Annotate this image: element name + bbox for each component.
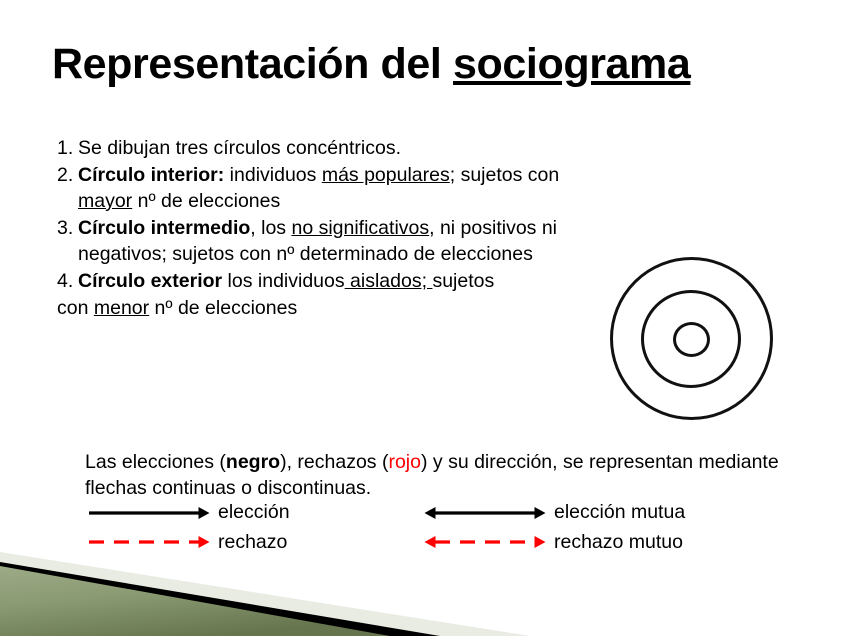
list-item-text: Se dibujan tres círculos concéntricos. <box>78 136 602 162</box>
legend-label-3: rechazo mutuo <box>554 533 788 553</box>
page-title: Representación del sociograma <box>52 40 812 89</box>
bullet-list: 1. Se dibujan tres círculos concéntricos… <box>57 136 602 321</box>
legend-label-0: elección <box>218 503 424 523</box>
legend: elección elección mutua rechazo rechazo … <box>88 503 788 552</box>
page-title-emphasis: sociograma <box>453 40 690 88</box>
concentric-circles-diagram <box>608 255 776 423</box>
legend-icon-1 <box>424 504 546 522</box>
legend-icon-2 <box>88 533 210 551</box>
caption-text: Las elecciones (negro), rechazos (rojo) … <box>85 450 785 501</box>
slide: Representación del sociograma 1. Se dibu… <box>0 0 848 636</box>
list-item-number: 4. <box>57 269 78 295</box>
page-title-prefix: Representación del <box>52 40 453 88</box>
list-item-number: 1. <box>57 136 78 162</box>
corner-gray-band <box>0 552 530 636</box>
list-item-text: Círculo exterior los individuos aislados… <box>78 269 602 295</box>
legend-icon-0 <box>88 504 210 522</box>
list-continuation-text: con menor nº de elecciones <box>57 296 602 322</box>
list-item: 2. Círculo interior: individuos más popu… <box>57 163 602 215</box>
circle-interior <box>673 322 710 357</box>
list-item: 1. Se dibujan tres círculos concéntricos… <box>57 136 602 162</box>
list-item-text: Círculo interior: individuos más popular… <box>78 163 602 215</box>
legend-label-2: rechazo <box>218 533 424 553</box>
corner-black-band <box>0 562 440 636</box>
legend-icon-3 <box>424 533 546 551</box>
list-item-number: 3. <box>57 216 78 242</box>
list-item: 4. Círculo exterior los individuos aisla… <box>57 269 602 295</box>
legend-label-1: elección mutua <box>554 503 788 523</box>
corner-green-band <box>0 566 390 636</box>
list-item-text: Círculo intermedio, los no significativo… <box>78 216 602 268</box>
list-item-number: 2. <box>57 163 78 189</box>
list-item: 3. Círculo intermedio, los no significat… <box>57 216 602 268</box>
